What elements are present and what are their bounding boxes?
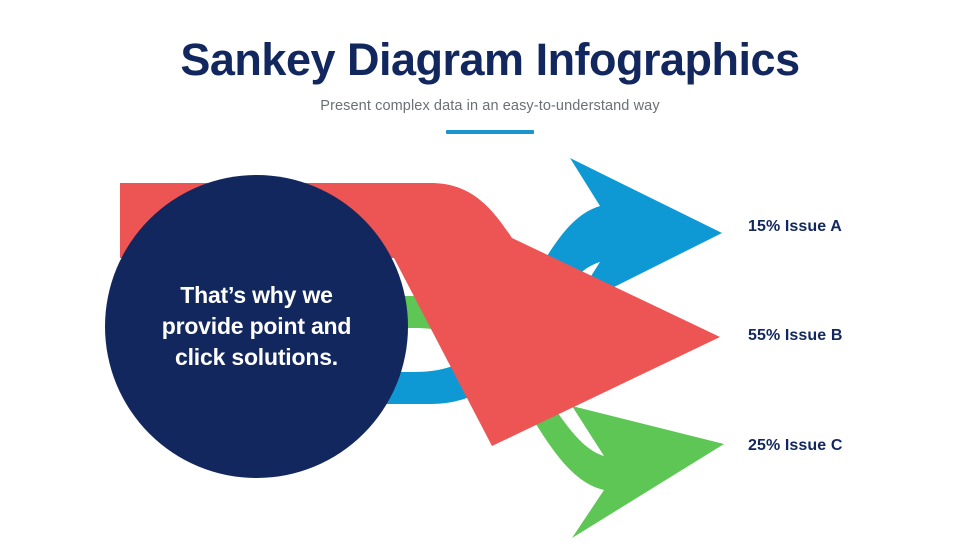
source-node-circle[interactable]: That’s why we provide point and click so… xyxy=(105,175,408,478)
node-label-issue-c: 25% Issue C xyxy=(748,437,842,455)
source-node-label: That’s why we provide point and click so… xyxy=(142,280,372,373)
node-label-issue-b: 55% Issue B xyxy=(748,327,842,345)
slide-canvas: Sankey Diagram Infographics Present comp… xyxy=(0,0,980,551)
node-label-issue-a: 15% Issue A xyxy=(748,218,842,236)
sankey-diagram: That’s why we provide point and click so… xyxy=(0,0,980,551)
